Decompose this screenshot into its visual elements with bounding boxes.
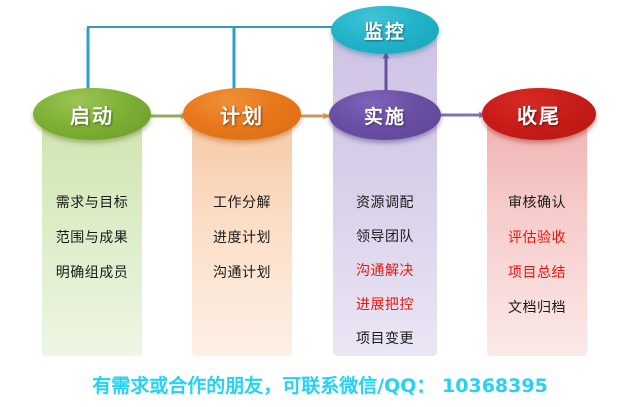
list-item: 项目变更 — [356, 332, 414, 346]
phase-head-monitor[interactable]: 监控 — [331, 6, 439, 54]
phase-head-execute[interactable]: 实施 — [329, 90, 441, 140]
list-item: 明确组成员 — [56, 266, 129, 280]
list-item: 评估验收 — [508, 231, 566, 245]
list-item: 文档归档 — [508, 301, 566, 315]
list-item: 沟通解决 — [356, 264, 414, 278]
phase-head-plan[interactable]: 计划 — [183, 88, 301, 140]
watermark-text: 有需求或合作的朋友，可联系微信/QQ： 10368395 — [0, 371, 640, 398]
phase-label-initiate: 启动 — [70, 100, 114, 129]
list-item: 沟通计划 — [213, 266, 271, 280]
list-item: 进展把控 — [356, 298, 414, 312]
phase-head-close[interactable]: 收尾 — [482, 88, 596, 140]
phase-label-monitor: 监控 — [364, 17, 406, 44]
phase-label-plan: 计划 — [220, 100, 264, 129]
list-item: 工作分解 — [213, 196, 271, 210]
list-item: 进度计划 — [213, 231, 271, 245]
phase-label-execute: 实施 — [364, 102, 406, 129]
list-item: 项目总结 — [508, 266, 566, 280]
list-item: 审核确认 — [508, 196, 566, 210]
phase-items-close: 审核确认 评估验收 项目总结 文档归档 — [487, 196, 587, 315]
phase-items-plan: 工作分解 进度计划 沟通计划 — [192, 196, 292, 280]
diagram-canvas: 启动 计划 实施 收尾 监控 需求与目标 范围与成果 明确组成员 工作分解 进度… — [0, 0, 640, 407]
phase-items-execute: 资源调配 领导团队 沟通解决 进展把控 项目变更 — [335, 196, 435, 346]
list-item: 资源调配 — [356, 196, 414, 210]
list-item: 需求与目标 — [56, 196, 129, 210]
list-item: 领导团队 — [356, 230, 414, 244]
phase-head-initiate[interactable]: 启动 — [33, 88, 151, 140]
list-item: 范围与成果 — [56, 231, 129, 245]
phase-label-close: 收尾 — [517, 100, 561, 129]
phase-items-initiate: 需求与目标 范围与成果 明确组成员 — [42, 196, 142, 280]
